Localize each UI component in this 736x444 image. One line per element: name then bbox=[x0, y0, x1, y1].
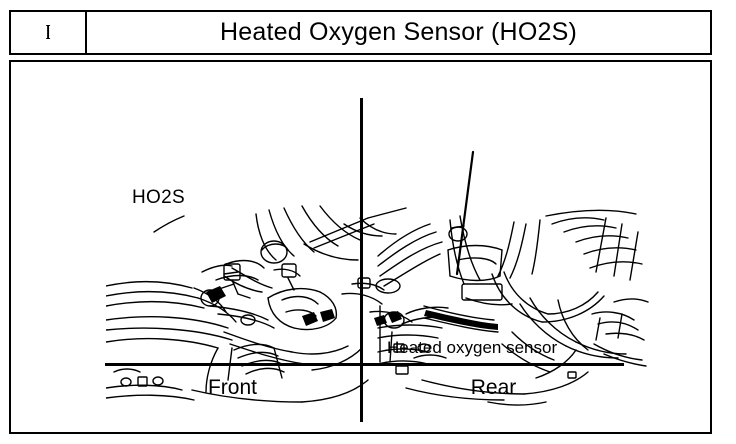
panel-label-rear: Rear bbox=[363, 377, 624, 398]
heated-oxygen-sensor-leader-line bbox=[457, 152, 473, 274]
front-rear-divider bbox=[360, 98, 363, 422]
callout-ho2s: HO2S bbox=[132, 188, 185, 207]
page-title: Heated Oxygen Sensor (HO2S) bbox=[220, 20, 577, 45]
callout-heated-oxygen-sensor: Heated oxygen sensor bbox=[387, 339, 557, 356]
label-baseline-rule bbox=[105, 363, 624, 366]
figure-header-row: I Heated Oxygen Sensor (HO2S) bbox=[9, 10, 712, 55]
figure-body-box: Front Rear HO2S Heated oxygen sensor bbox=[9, 60, 712, 434]
panel-label-front: Front bbox=[105, 377, 360, 398]
figure-number: I bbox=[46, 22, 51, 43]
manual-page: I Heated Oxygen Sensor (HO2S) bbox=[0, 0, 736, 444]
figure-title-cell: Heated Oxygen Sensor (HO2S) bbox=[87, 12, 710, 53]
figure-number-cell: I bbox=[11, 12, 87, 53]
